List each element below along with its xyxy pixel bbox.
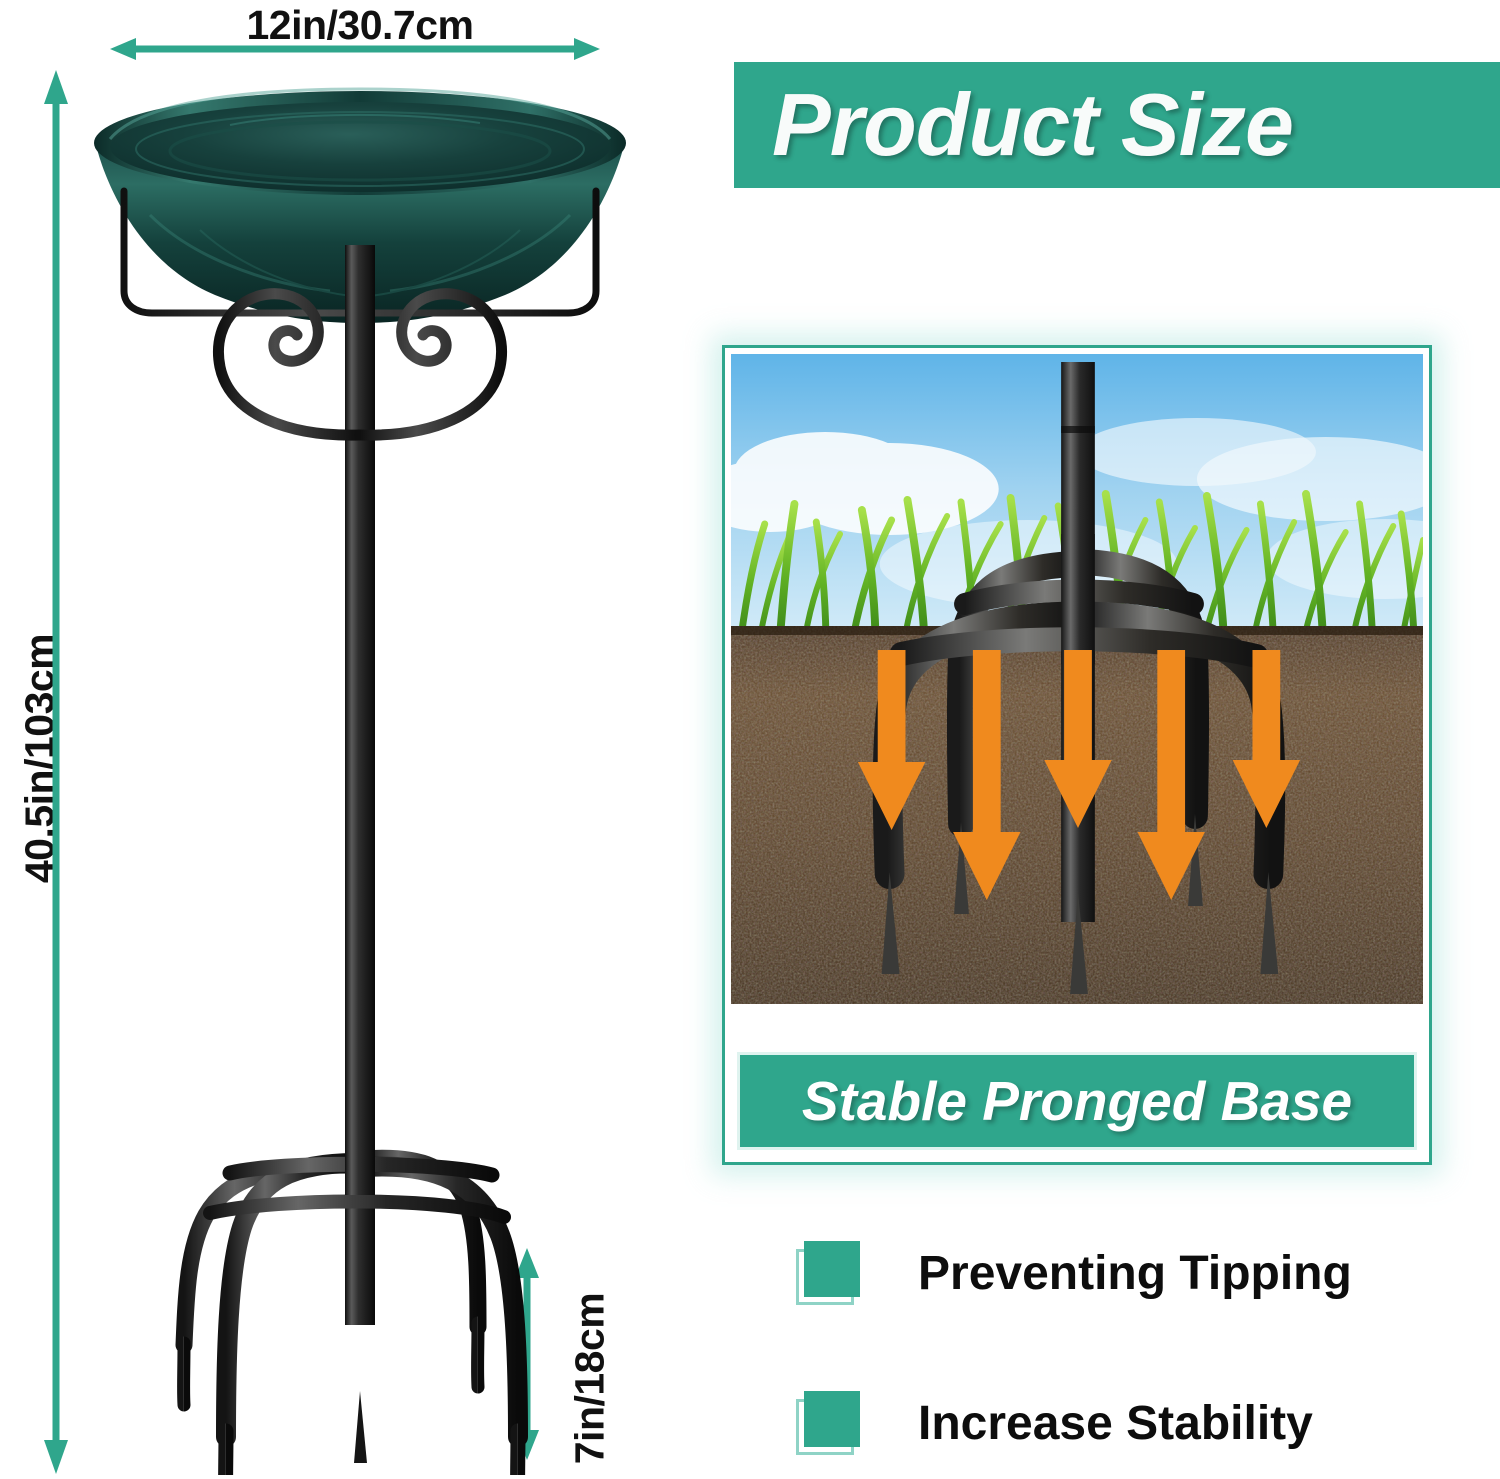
bullet-fill [804,1391,860,1447]
square-bullet-icon [796,1241,866,1305]
pronged-base-photo-card: Stable Pronged Base [722,345,1432,1165]
height-dimension-arrow [44,70,68,1474]
photo-caption-bar: Stable Pronged Base [737,1052,1417,1150]
photo-caption: Stable Pronged Base [802,1069,1352,1133]
feature-label: Preventing Tipping [918,1246,1352,1301]
square-bullet-icon [796,1391,866,1455]
product-infographic: 12in/30.7cm 40.5in/103cm 7in/18cm [0,0,1500,1479]
photo-frame: Stable Pronged Base [722,345,1432,1165]
banner-fill: Product Size [734,62,1500,188]
feature-label: Increase Stability [918,1396,1313,1451]
soil-scene-photo [731,354,1423,1004]
feature-panel: Product Size [700,0,1500,1479]
bullet-fill [804,1241,860,1297]
list-item: Increase Stability [796,1368,1496,1478]
photo-inner: Stable Pronged Base [731,354,1423,1156]
bird-bath-illustration [80,55,640,1475]
feature-list: Preventing Tipping Increase Stability [796,1218,1496,1478]
list-item: Preventing Tipping [796,1218,1496,1328]
page-title: Product Size [772,74,1293,176]
product-dimension-panel: 12in/30.7cm 40.5in/103cm 7in/18cm [0,0,700,1479]
pronged-base [180,1155,524,1475]
product-size-banner: Product Size [714,62,1500,212]
